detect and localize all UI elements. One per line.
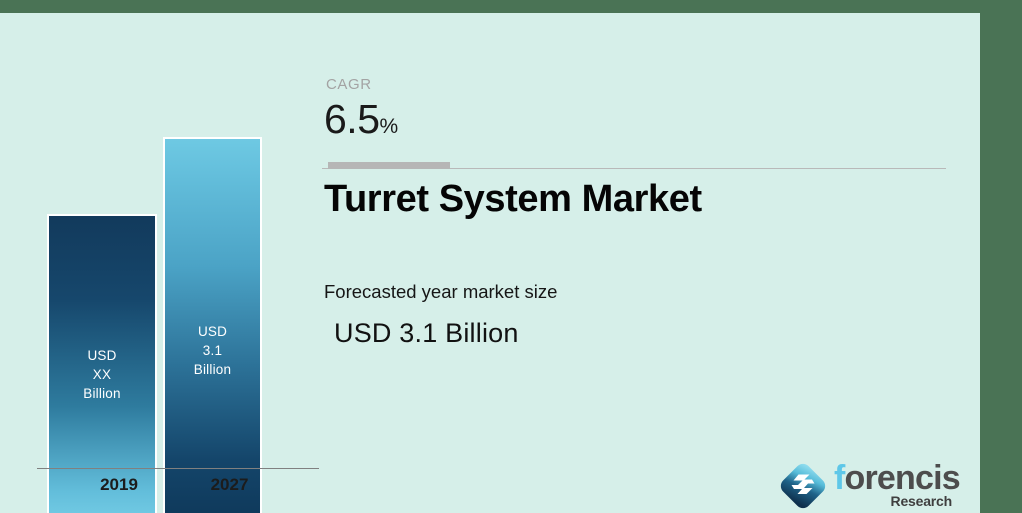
cagr-value: 6.5% <box>324 96 398 150</box>
bar-2019-label: USD XX Billion <box>83 346 120 403</box>
cagr-label: CAGR <box>326 76 372 93</box>
page-title: Turret System Market <box>324 178 702 221</box>
divider-accent-bar <box>328 162 450 169</box>
forencis-wordmark-rest: orencis <box>845 459 960 497</box>
forecast-label: Forecasted year market size <box>324 281 557 303</box>
bar-2019-label-line-1: XX <box>83 365 120 384</box>
forencis-diamond-s-mark-icon <box>776 459 830 513</box>
bar-2027-label-line-0: USD <box>194 322 231 341</box>
bar-2027: USD 3.1 Billion <box>163 137 262 513</box>
category-label-2027: 2027 <box>180 475 279 495</box>
forecast-value: USD 3.1 Billion <box>334 318 519 349</box>
bar-2019-label-line-2: Billion <box>83 384 120 403</box>
forencis-wordmark-prefix: f <box>834 459 845 497</box>
chart-baseline-axis <box>37 468 319 469</box>
forencis-logo-text: forencis Research <box>834 457 954 513</box>
cagr-number: 6.5 <box>324 96 380 142</box>
bar-2027-label-line-2: Billion <box>194 360 231 379</box>
bar-2027-label: USD 3.1 Billion <box>194 322 231 379</box>
category-label-2019: 2019 <box>64 475 174 495</box>
cagr-percent-sign: % <box>380 115 399 138</box>
infographic-slide: USD XX Billion USD 3.1 Billion 2019 2027 <box>0 0 1022 513</box>
bar-2019-label-line-0: USD <box>83 346 120 365</box>
info-panel: CAGR 6.5% Turret System Market Forecaste… <box>322 13 962 513</box>
bar-chart: USD XX Billion USD 3.1 Billion 2019 2027 <box>20 13 330 513</box>
forencis-logo: forencis Research <box>776 455 956 513</box>
forencis-wordmark: forencis <box>834 461 960 495</box>
chart-category-labels: 2019 2027 <box>37 475 319 505</box>
bar-2027-label-line-1: 3.1 <box>194 341 231 360</box>
slide-canvas: USD XX Billion USD 3.1 Billion 2019 2027 <box>0 13 980 513</box>
forencis-logo-subtitle: Research <box>891 493 952 509</box>
